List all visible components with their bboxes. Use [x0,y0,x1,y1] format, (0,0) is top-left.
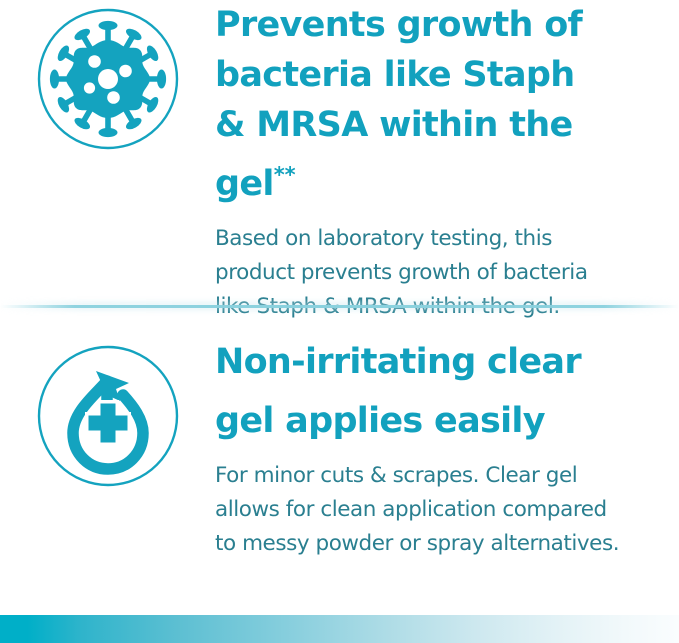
feature-row-virus: Prevents growth of bacteria like Staph &… [0,0,679,324]
product-feature-panel: Prevents growth of bacteria like Staph &… [0,0,679,643]
feature-icon-container-1 [0,0,215,150]
feature-row-clear-gel: Non-irritating clear gel applies easily … [0,337,679,561]
feature-headline: Prevents growth of bacteria like Staph &… [215,0,615,209]
feature-subcopy: For minor cuts & scrapes. Clear gel allo… [215,459,627,561]
feature-headline-text: Non-irritating clear gel applies easily [215,342,581,441]
droplet-cross-arrow-icon [37,345,179,487]
virus-icon [37,8,179,150]
bottom-gradient-bar [0,615,679,643]
feature-text-container-1: Prevents growth of bacteria like Staph &… [215,0,679,324]
droplet-cross-arrow-icon-graphic [37,345,179,487]
section-divider [0,305,679,308]
virus-icon-graphic [37,8,179,150]
feature-icon-container-2 [0,337,215,487]
feature-text-container-2: Non-irritating clear gel applies easily … [215,337,679,561]
feature-headline-footnote-marker: ** [274,163,296,187]
feature-headline: Non-irritating clear gel applies easily [215,337,615,446]
feature-headline-text: Prevents growth of bacteria like Staph &… [215,5,582,204]
